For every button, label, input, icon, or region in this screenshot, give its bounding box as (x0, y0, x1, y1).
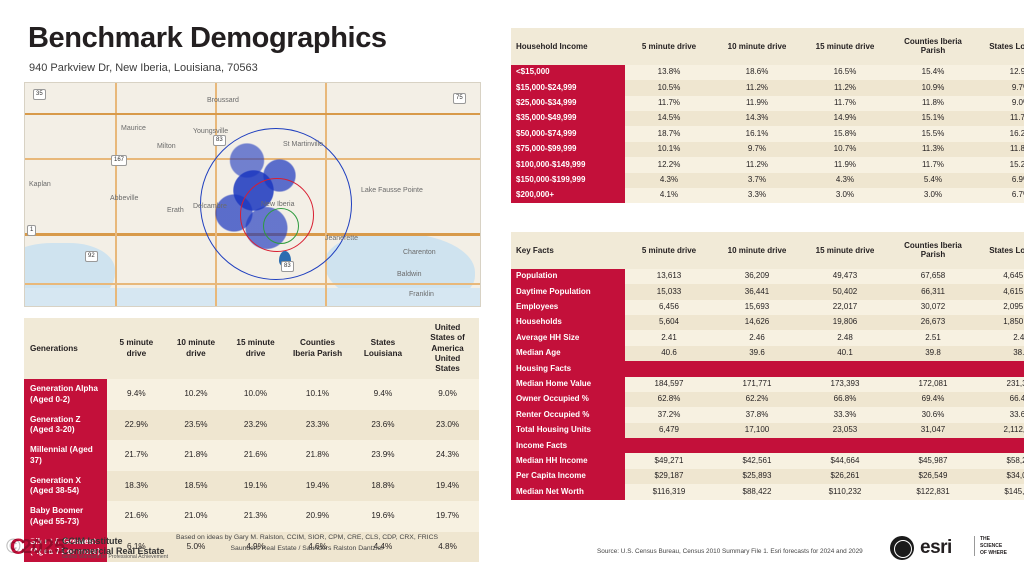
cell: 11.9% (801, 157, 889, 172)
section-header-income-facts: Income Facts (511, 438, 1024, 453)
esri-tag-line-3: OF WHERE (980, 550, 1007, 557)
table-row: Baby Boomer (Aged 55-73) 21.6% 21.0% 21.… (24, 501, 479, 532)
watermark: ©2025 (6, 536, 65, 559)
cell: 12.9% (977, 65, 1024, 80)
esri-wordmark: esri (920, 537, 952, 559)
col-header-10min: 10 minute drive (166, 318, 226, 379)
table-row: $35,000-$49,999 14.5% 14.3% 14.9% 15.1% … (511, 111, 1024, 126)
route-shield-icon: 92 (85, 251, 98, 262)
drive-time-map[interactable]: Broussard Maurice Youngsville Milton St … (24, 82, 481, 307)
cell: 2.41 (625, 330, 713, 345)
ccim-tagline: Global Standard for Professional Achieve… (62, 554, 168, 560)
cell: 21.3% (226, 501, 286, 532)
row-label: Generation X (Aged 38-54) (24, 471, 107, 502)
table-row: Generation Alpha (Aged 0-2) 9.4% 10.2% 1… (24, 379, 479, 410)
cell: 66,311 (889, 284, 977, 299)
key-facts-table: Key Facts 5 minute drive 10 minute drive… (511, 232, 1024, 500)
route-shield-icon: 35 (33, 89, 46, 100)
cell: 17,100 (713, 423, 801, 438)
route-shield-icon: 75 (453, 93, 466, 104)
cell: $145,752 (977, 484, 1024, 499)
cell: 15.4% (889, 65, 977, 80)
esri-tagline: THE SCIENCE OF WHERE (974, 536, 1007, 556)
row-label: Average HH Size (511, 330, 625, 345)
esri-tag-line-2: SCIENCE (980, 543, 1007, 550)
cell: 10.1% (625, 142, 713, 157)
cell: 21.6% (107, 501, 167, 532)
cell: 11.7% (977, 111, 1024, 126)
cell: 23.5% (166, 410, 226, 441)
col-header-state: States Louisiana (350, 318, 416, 379)
table-row: Median Home Value 184,597 171,771 173,39… (511, 377, 1024, 392)
table-row: $150,000-$199,999 4.3% 3.7% 4.3% 5.4% 6.… (511, 173, 1024, 188)
cell: $45,987 (889, 453, 977, 468)
cell: 33.6% (977, 407, 1024, 422)
cell: 3.0% (801, 188, 889, 203)
cell: 26,673 (889, 315, 977, 330)
left-column: Benchmark Demographics 940 Parkview Dr, … (0, 0, 500, 575)
esri-logo: esri THE SCIENCE OF WHERE (890, 534, 1010, 564)
map-label: Charenton (403, 249, 436, 256)
map-label: Baldwin (397, 271, 422, 278)
map-label: Erath (167, 207, 184, 214)
table-row: Owner Occupied % 62.8% 62.2% 66.8% 69.4%… (511, 392, 1024, 407)
cell: 6,479 (625, 423, 713, 438)
cell: 40.1 (801, 346, 889, 361)
row-label: $35,000-$49,999 (511, 111, 625, 126)
cell: $42,561 (713, 453, 801, 468)
cell: 37.2% (625, 407, 713, 422)
cell: 4,645,401 (977, 269, 1024, 284)
cell: $116,319 (625, 484, 713, 499)
cell: 3.3% (713, 188, 801, 203)
row-label: Generation Z (Aged 3-20) (24, 410, 107, 441)
cell: 24.3% (416, 440, 479, 471)
map-label: St Martinville (283, 141, 323, 148)
credit-line-1: Based on ideas by Gary M. Ralston, CCIM,… (176, 533, 438, 544)
table-row: Generation Z (Aged 3-20) 22.9% 23.5% 23.… (24, 410, 479, 441)
col-header-county: Counties Iberia Parish (285, 318, 349, 379)
map-label: Youngsville (193, 128, 228, 135)
cell: $110,232 (801, 484, 889, 499)
cell: 2,095,498 (977, 300, 1024, 315)
cell: 14.3% (713, 111, 801, 126)
cell: 184,597 (625, 377, 713, 392)
cell: 172,081 (889, 377, 977, 392)
cell: 5,604 (625, 315, 713, 330)
cell: 2,112,909 (977, 423, 1024, 438)
table-row: $50,000-$74,999 18.7% 16.1% 15.8% 15.5% … (511, 126, 1024, 141)
cell: 21.8% (166, 440, 226, 471)
table-row: $15,000-$24,999 10.5% 11.2% 11.2% 10.9% … (511, 80, 1024, 95)
cell: 231,337 (977, 377, 1024, 392)
table-row: $100,000-$149,999 12.2% 11.2% 11.9% 11.7… (511, 157, 1024, 172)
generations-table: Generations 5 minute drive 10 minute dri… (24, 318, 479, 562)
map-label: Maurice (121, 125, 146, 132)
cell: 15.5% (889, 126, 977, 141)
col-header-household-income: Household Income (511, 28, 625, 65)
col-header-usa: United States of America United States (416, 318, 479, 379)
row-label: Population (511, 269, 625, 284)
ring-5-minute (263, 208, 299, 244)
cell: 10.9% (889, 80, 977, 95)
table-row: Per Capita Income $29,187 $25,893 $26,26… (511, 469, 1024, 484)
row-label: $50,000-$74,999 (511, 126, 625, 141)
table-row: Generation X (Aged 38-54) 18.3% 18.5% 19… (24, 471, 479, 502)
cell: 50,402 (801, 284, 889, 299)
cell: 16.1% (713, 126, 801, 141)
cell: 2.46 (713, 330, 801, 345)
row-label: Renter Occupied % (511, 407, 625, 422)
cell: 23.0% (416, 410, 479, 441)
route-shield-icon: 1 (27, 225, 36, 236)
cell: 19.4% (285, 471, 349, 502)
cell: 23.9% (350, 440, 416, 471)
cell: 11.7% (889, 157, 977, 172)
cell: 21.0% (166, 501, 226, 532)
col-header-generations: Generations (24, 318, 107, 379)
cell: 9.0% (416, 379, 479, 410)
cell: 3.0% (889, 188, 977, 203)
cell: $34,036 (977, 469, 1024, 484)
table-row: Average HH Size 2.41 2.46 2.48 2.51 2.44… (511, 330, 1024, 345)
cell: 171,771 (713, 377, 801, 392)
row-label: Households (511, 315, 625, 330)
cell: 33.3% (801, 407, 889, 422)
cell: 40.6 (625, 346, 713, 361)
table-row: Total Housing Units 6,479 17,100 23,053 … (511, 423, 1024, 438)
cell: 3.7% (713, 173, 801, 188)
col-header-state: States Louisiana (977, 28, 1024, 65)
cell: 4.3% (801, 173, 889, 188)
cell: 12.2% (625, 157, 713, 172)
cell: 4.3% (625, 173, 713, 188)
cell: 10.1% (285, 379, 349, 410)
cell: 13.8% (625, 65, 713, 80)
row-label: $150,000-$199,999 (511, 173, 625, 188)
cell: 19,806 (801, 315, 889, 330)
cell: 22,017 (801, 300, 889, 315)
row-label: $15,000-$24,999 (511, 80, 625, 95)
cell: 66.8% (801, 392, 889, 407)
cell: 15.8% (801, 126, 889, 141)
cell: 67,658 (889, 269, 977, 284)
cell: 69.4% (889, 392, 977, 407)
table-header-row: Generations 5 minute drive 10 minute dri… (24, 318, 479, 379)
table-row: Population 13,613 36,209 49,473 67,658 4… (511, 269, 1024, 284)
row-label: Median HH Income (511, 453, 625, 468)
cell: 23.3% (285, 410, 349, 441)
row-label: Baby Boomer (Aged 55-73) (24, 501, 107, 532)
cell: $29,187 (625, 469, 713, 484)
page-title: Benchmark Demographics (28, 22, 387, 55)
cell: 15,033 (625, 284, 713, 299)
cell: 36,209 (713, 269, 801, 284)
col-header-key-facts: Key Facts (511, 232, 625, 269)
row-label: Employees (511, 300, 625, 315)
table-header-row: Household Income 5 minute drive 10 minut… (511, 28, 1024, 65)
col-header-10min: 10 minute drive (713, 28, 801, 65)
row-label: $75,000-$99,999 (511, 142, 625, 157)
cell: 4.1% (625, 188, 713, 203)
site-address: 940 Parkview Dr, New Iberia, Louisiana, … (29, 62, 258, 74)
cell: 62.8% (625, 392, 713, 407)
table-row: $75,000-$99,999 10.1% 9.7% 10.7% 11.3% 1… (511, 142, 1024, 157)
cell: 2.44 (977, 330, 1024, 345)
cell: 5.4% (889, 173, 977, 188)
cell: 18.7% (625, 126, 713, 141)
cell: 20.9% (285, 501, 349, 532)
cell: $122,831 (889, 484, 977, 499)
cell: 19.7% (416, 501, 479, 532)
table-row: $25,000-$34,999 11.7% 11.9% 11.7% 11.8% … (511, 96, 1024, 111)
cell: 11.8% (889, 96, 977, 111)
col-header-15min: 15 minute drive (801, 28, 889, 65)
row-label: Owner Occupied % (511, 392, 625, 407)
cell: 9.4% (350, 379, 416, 410)
row-label: Millennial (Aged 37) (24, 440, 107, 471)
table-row: Households 5,604 14,626 19,806 26,673 1,… (511, 315, 1024, 330)
cell: 11.2% (801, 80, 889, 95)
cell: 66.4% (977, 392, 1024, 407)
cell: 39.6 (713, 346, 801, 361)
cell: 15.1% (889, 111, 977, 126)
table-row: Millennial (Aged 37) 21.7% 21.8% 21.6% 2… (24, 440, 479, 471)
map-label: Abbeville (110, 195, 138, 202)
table-header-row: Key Facts 5 minute drive 10 minute drive… (511, 232, 1024, 269)
col-header-5min: 5 minute drive (625, 28, 713, 65)
row-label: Median Age (511, 346, 625, 361)
row-label: Generation Alpha (Aged 0-2) (24, 379, 107, 410)
cell: 23.6% (350, 410, 416, 441)
row-label: Total Housing Units (511, 423, 625, 438)
cell: 21.6% (226, 440, 286, 471)
cell: 9.7% (713, 142, 801, 157)
map-label: Kaplan (29, 181, 51, 188)
household-income-table: Household Income 5 minute drive 10 minut… (511, 28, 1024, 203)
cell: 1,850,821 (977, 315, 1024, 330)
cell: 18.5% (166, 471, 226, 502)
cell: 11.7% (801, 96, 889, 111)
ccim-name-line-1: CCIM Institute (62, 536, 165, 546)
cell: 36,441 (713, 284, 801, 299)
cell: 22.9% (107, 410, 167, 441)
cell: 10.5% (625, 80, 713, 95)
esri-tag-line-1: THE (980, 536, 1007, 543)
cell: 2.51 (889, 330, 977, 345)
col-header-10min: 10 minute drive (713, 232, 801, 269)
table-row: Employees 6,456 15,693 22,017 30,072 2,0… (511, 300, 1024, 315)
map-label: New Iberia (261, 201, 294, 208)
cell: 11.7% (625, 96, 713, 111)
cell: 6,456 (625, 300, 713, 315)
col-header-state: States Louisiana (977, 232, 1024, 269)
cell: 15,693 (713, 300, 801, 315)
cell: 10.7% (801, 142, 889, 157)
globe-icon (890, 536, 914, 560)
map-label: Delcambre (193, 203, 227, 210)
col-header-15min: 15 minute drive (226, 318, 286, 379)
cell: 9.7% (977, 80, 1024, 95)
cell: 18.3% (107, 471, 167, 502)
cell: $25,893 (713, 469, 801, 484)
map-label: Milton (157, 143, 176, 150)
row-label: <$15,000 (511, 65, 625, 80)
cell: 14.5% (625, 111, 713, 126)
source-note: Source: U.S. Census Bureau, Census 2010 … (597, 548, 863, 555)
cell: 10.0% (226, 379, 286, 410)
row-label: $100,000-$149,999 (511, 157, 625, 172)
cell: 30.6% (889, 407, 977, 422)
table-row: Median HH Income $49,271 $42,561 $44,664… (511, 453, 1024, 468)
cell: 39.8 (889, 346, 977, 361)
cell: 31,047 (889, 423, 977, 438)
col-header-county: Counties Iberia Parish (889, 28, 977, 65)
cell: 62.2% (713, 392, 801, 407)
cell: 9.0% (977, 96, 1024, 111)
section-header-housing-facts: Housing Facts (511, 361, 1024, 376)
cell: 11.2% (713, 80, 801, 95)
cell: $58,284 (977, 453, 1024, 468)
cell: 15.2% (977, 157, 1024, 172)
row-label: Median Net Worth (511, 484, 625, 499)
route-shield-icon: 83 (213, 135, 226, 146)
cell: 30,072 (889, 300, 977, 315)
cell: 13,613 (625, 269, 713, 284)
cell: 19.4% (416, 471, 479, 502)
cell: 18.6% (713, 65, 801, 80)
cell: 21.7% (107, 440, 167, 471)
cell: 19.6% (350, 501, 416, 532)
cell: 23.2% (226, 410, 286, 441)
table-row: <$15,000 13.8% 18.6% 16.5% 15.4% 12.9% 8… (511, 65, 1024, 80)
cell: 10.2% (166, 379, 226, 410)
map-label: Jeanerette (325, 235, 358, 242)
table-row: Median Age 40.6 39.6 40.1 39.8 38.6 39.3 (511, 346, 1024, 361)
cell: $88,422 (713, 484, 801, 499)
map-label: Broussard (207, 97, 239, 104)
cell: 14,626 (713, 315, 801, 330)
route-shield-icon: 167 (111, 155, 127, 166)
table-row: Renter Occupied % 37.2% 37.8% 33.3% 30.6… (511, 407, 1024, 422)
cell: 11.9% (713, 96, 801, 111)
table-row: $200,000+ 4.1% 3.3% 3.0% 3.0% 6.7% 12.6% (511, 188, 1024, 203)
right-column: Household Income 5 minute drive 10 minut… (505, 0, 1024, 575)
cell: 173,393 (801, 377, 889, 392)
cell: 14.9% (801, 111, 889, 126)
cell: $44,664 (801, 453, 889, 468)
cell: 11.8% (977, 142, 1024, 157)
cell: 11.2% (713, 157, 801, 172)
cell: 6.9% (977, 173, 1024, 188)
table-row: Daytime Population 15,033 36,441 50,402 … (511, 284, 1024, 299)
row-label: Per Capita Income (511, 469, 625, 484)
route-shield-icon: 83 (281, 261, 294, 272)
row-label: $25,000-$34,999 (511, 96, 625, 111)
cell: 38.6 (977, 346, 1024, 361)
row-label: Median Home Value (511, 377, 625, 392)
section-title: Housing Facts (511, 361, 1024, 376)
cell: 49,473 (801, 269, 889, 284)
map-label: Lake Fausse Pointe (361, 187, 401, 194)
cell: 4,615,869 (977, 284, 1024, 299)
row-label: $200,000+ (511, 188, 625, 203)
section-title: Income Facts (511, 438, 1024, 453)
cell: 23,053 (801, 423, 889, 438)
credit-line-2: Saunders Real Estate / Saunders Ralston … (176, 544, 438, 555)
cell: $49,271 (625, 453, 713, 468)
cell: 18.8% (350, 471, 416, 502)
cell: 2.48 (801, 330, 889, 345)
cell: 9.4% (107, 379, 167, 410)
table-row: Median Net Worth $116,319 $88,422 $110,2… (511, 484, 1024, 499)
row-label: Daytime Population (511, 284, 625, 299)
cell: 21.8% (285, 440, 349, 471)
cell: $26,549 (889, 469, 977, 484)
cell: 37.8% (713, 407, 801, 422)
cell: 16.2% (977, 126, 1024, 141)
cell: 6.7% (977, 188, 1024, 203)
col-header-5min: 5 minute drive (625, 232, 713, 269)
cell: 16.5% (801, 65, 889, 80)
col-header-county: Counties Iberia Parish (889, 232, 977, 269)
credit-note: Based on ideas by Gary M. Ralston, CCIM,… (176, 533, 438, 554)
cell: 19.1% (226, 471, 286, 502)
col-header-15min: 15 minute drive (801, 232, 889, 269)
col-header-5min: 5 minute drive (107, 318, 167, 379)
cell: $26,261 (801, 469, 889, 484)
cell: 11.3% (889, 142, 977, 157)
map-label: Franklin (409, 291, 434, 298)
